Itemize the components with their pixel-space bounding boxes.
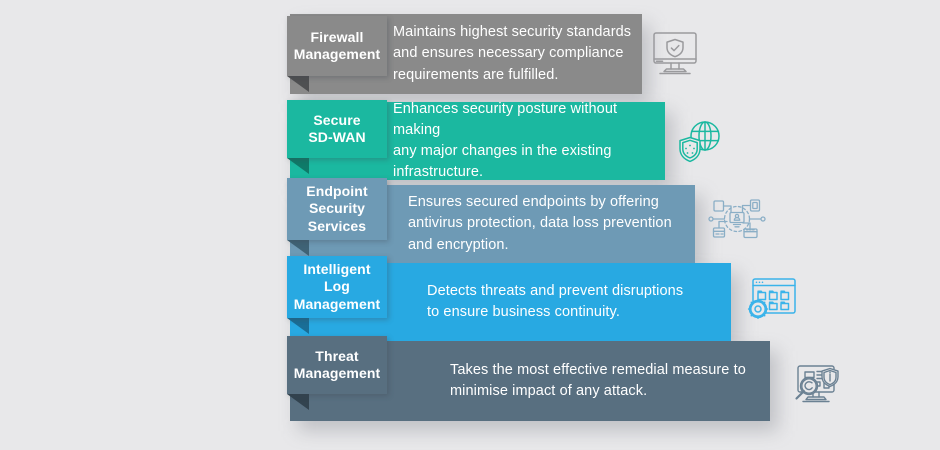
description-text: Maintains highest security standards and… [393, 22, 631, 85]
threat-scan-monitor-shield-icon [786, 352, 850, 410]
category-label-2[interactable]: Secure SD-WAN [287, 100, 387, 158]
description-text: Enhances security posture without making… [393, 99, 665, 183]
label-fold [287, 394, 309, 410]
description-text: Takes the most effective remedial measur… [450, 360, 746, 402]
infographic-canvas: Maintains highest security standards and… [0, 0, 940, 450]
monitor-shield-check-icon [643, 24, 707, 82]
label-fold [287, 158, 309, 174]
category-label-5[interactable]: Threat Management [287, 336, 387, 394]
label-fold [287, 240, 309, 256]
category-label-text: Firewall Management [294, 29, 381, 63]
description-text: Detects threats and prevent disruptions … [427, 281, 683, 323]
category-label-4[interactable]: Intelligent Log Management [287, 256, 387, 318]
endpoint-network-icon [705, 190, 769, 248]
category-label-1[interactable]: Firewall Management [287, 16, 387, 76]
category-label-text: Secure SD-WAN [308, 112, 365, 146]
category-label-text: Endpoint Security Services [306, 183, 367, 234]
category-label-text: Intelligent Log Management [294, 261, 381, 312]
description-text: Ensures secured endpoints by offering an… [408, 192, 672, 255]
log-window-gear-icon [740, 270, 804, 328]
label-fold [287, 318, 309, 334]
label-fold [287, 76, 309, 92]
category-label-3[interactable]: Endpoint Security Services [287, 178, 387, 240]
globe-shield-icon [668, 113, 732, 171]
category-label-text: Threat Management [294, 348, 381, 382]
